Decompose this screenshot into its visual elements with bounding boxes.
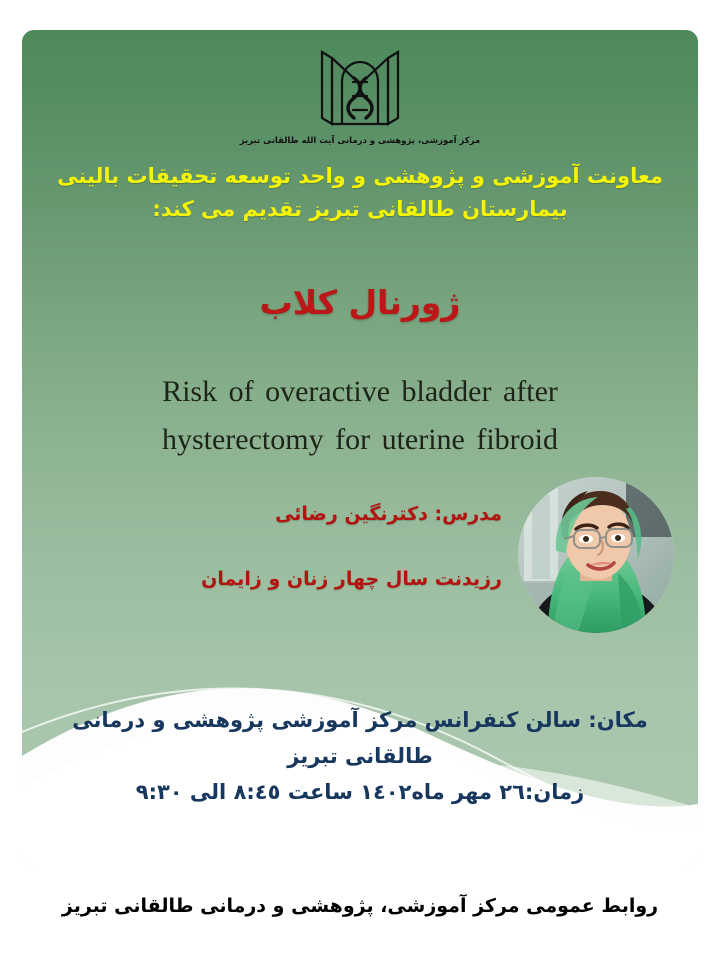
venue-info-block: مکان: سالن کنفرانس مرکز آموزشی پژوهشی و … xyxy=(38,702,682,810)
speaker-info-block: مدرس: دکترنگین رضائی رزیدنت سال چهار زنا… xyxy=(72,500,502,594)
poster-green-panel: مرکز آموزشی، پژوهشی و درمانی آیت الله طا… xyxy=(22,30,698,866)
speaker-role: رزیدنت سال چهار زنان و زایمان xyxy=(72,565,502,594)
logo-svg xyxy=(312,38,408,130)
speaker-name: مدرس: دکترنگین رضائی xyxy=(72,500,502,529)
header-line-2: بیمارستان طالقانی تبریز تقدیم می کند: xyxy=(52,193,668,226)
paper-title: Risk of overactive bladder after hystere… xyxy=(67,368,653,464)
header-text-block: معاونت آموزشی و پژوهشی و واحد توسعه تحقی… xyxy=(52,160,668,226)
header-line-1: معاونت آموزشی و پژوهشی و واحد توسعه تحقی… xyxy=(52,160,668,193)
paper-title-line-2: hysterectomy for uterine fibroid xyxy=(67,416,653,464)
venue-place: مکان: سالن کنفرانس مرکز آموزشی پژوهشی و … xyxy=(38,702,682,774)
speaker-avatar xyxy=(518,477,674,633)
journal-club-title: ژورنال کلاب xyxy=(52,283,668,322)
footer-credit: روابط عمومی مرکز آموزشی، پژوهشی و درمانی… xyxy=(0,895,720,917)
organization-logo: مرکز آموزشی، پژوهشی و درمانی آیت الله طا… xyxy=(22,30,698,146)
logo-caption-text: مرکز آموزشی، پژوهشی و درمانی آیت الله طا… xyxy=(22,136,698,146)
speaker-portrait-image xyxy=(518,477,674,633)
paper-title-line-1: Risk of overactive bladder after xyxy=(67,368,653,416)
poster-page: مرکز آموزشی، پژوهشی و درمانی آیت الله طا… xyxy=(0,0,720,960)
venue-datetime: زمان:٢٦ مهر ماه١٤٠٢ ساعت ٨:٤٥ الی ٩:٣٠ xyxy=(38,774,682,810)
open-book-dna-logo-icon xyxy=(312,38,408,134)
